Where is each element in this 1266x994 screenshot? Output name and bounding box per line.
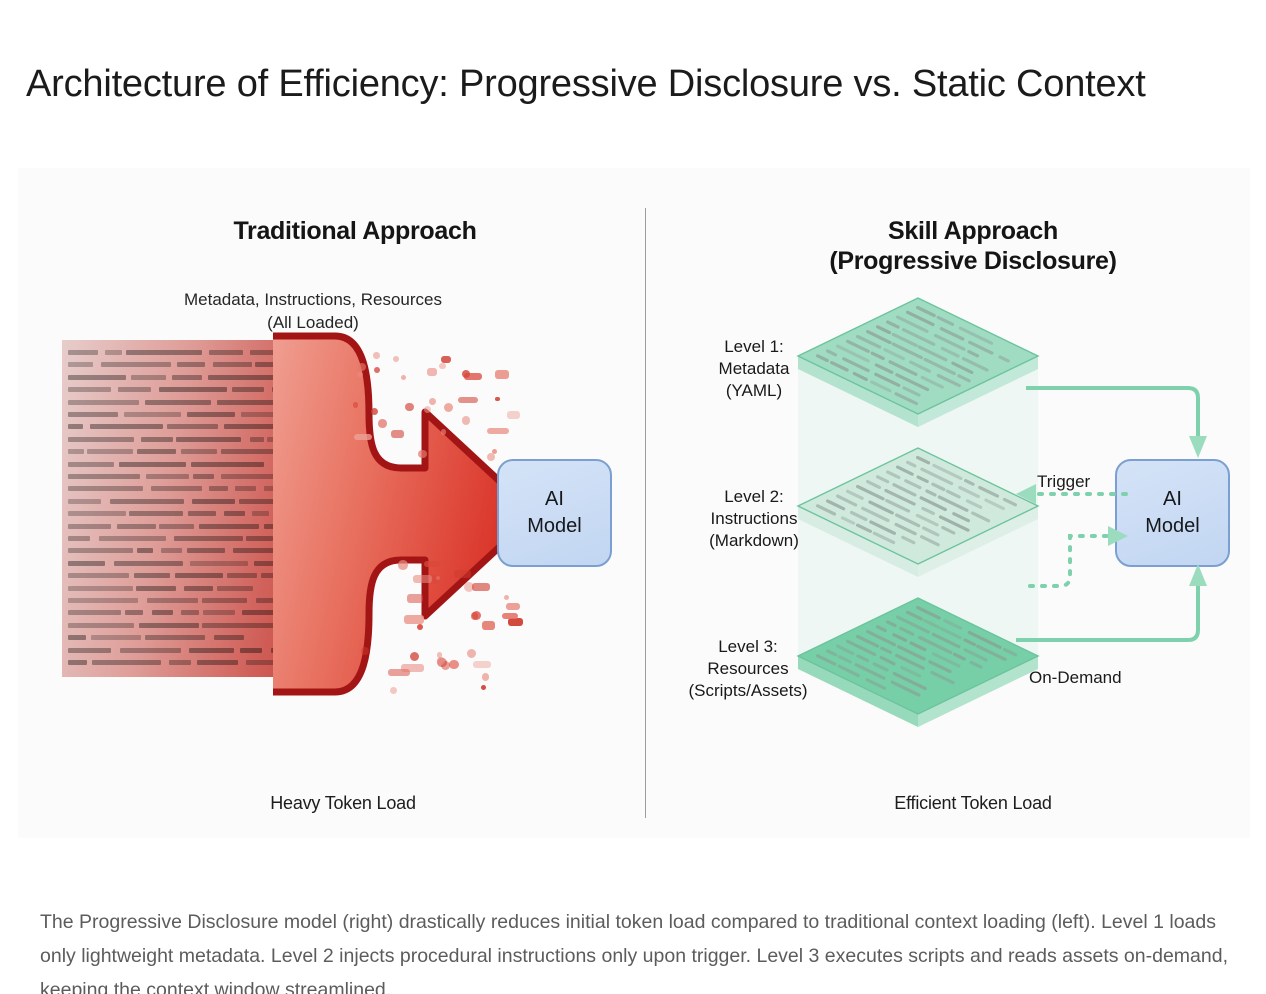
token-particle [354, 434, 372, 440]
token-particle [424, 406, 431, 413]
figure-page: Architecture of Efficiency: Progressive … [0, 0, 1266, 994]
on-demand-label: On-Demand [1029, 668, 1122, 688]
token-particle [441, 429, 447, 435]
token-particle [458, 397, 478, 403]
ai-model-box-left: AI Model [497, 459, 612, 567]
heavy-token-load-label: Heavy Token Load [84, 793, 602, 814]
ai-model-left-line1: AI [545, 486, 564, 513]
token-particle [404, 615, 424, 624]
token-particle [391, 430, 404, 438]
token-particle [373, 352, 380, 359]
efficient-token-load-label: Efficient Token Load [708, 793, 1238, 814]
token-particle [378, 419, 387, 428]
left-column-heading: Traditional Approach [102, 216, 608, 246]
flow-connectors [1008, 318, 1258, 718]
token-particle [495, 370, 509, 379]
token-particle [437, 652, 443, 658]
token-particle [410, 652, 419, 661]
token-particle [371, 408, 378, 415]
token-particle [502, 613, 518, 619]
panel-divider [645, 208, 646, 818]
token-particle [427, 368, 438, 376]
trigger-label: Trigger [1037, 472, 1090, 492]
right-column-heading: Skill Approach (Progressive Disclosure) [708, 216, 1238, 276]
token-particle [436, 576, 440, 580]
token-particle [429, 398, 436, 405]
left-source-label-line1: Metadata, Instructions, Resources [48, 288, 578, 311]
token-particle [508, 618, 523, 626]
token-particle [472, 583, 490, 591]
token-particle [358, 363, 366, 371]
token-particle [449, 660, 459, 670]
ai-model-left-line2: Model [527, 513, 581, 540]
right-column-heading-line2: (Progressive Disclosure) [708, 246, 1238, 276]
token-particle [482, 673, 489, 680]
page-title: Architecture of Efficiency: Progressive … [26, 57, 1206, 112]
token-particle [413, 575, 433, 583]
token-particle [487, 428, 509, 434]
token-particle [482, 621, 495, 630]
token-particle [464, 373, 482, 380]
token-particle [454, 570, 471, 578]
token-particle [407, 594, 423, 603]
token-particle [401, 664, 424, 672]
token-particle [506, 603, 520, 610]
right-column-heading-line1: Skill Approach [708, 216, 1238, 246]
token-particle [393, 356, 399, 362]
token-particle [441, 356, 451, 364]
diagram-panel: Traditional Approach Metadata, Instructi… [18, 168, 1250, 838]
token-particle [390, 687, 397, 694]
token-particle [437, 657, 445, 665]
token-particle [424, 561, 439, 567]
token-particle [398, 560, 408, 570]
token-particle [439, 363, 446, 370]
figure-caption: The Progressive Disclosure model (right)… [40, 905, 1249, 994]
token-particle [473, 661, 491, 667]
token-particle [507, 411, 521, 419]
token-particle [444, 403, 453, 412]
token-particle [504, 595, 509, 600]
